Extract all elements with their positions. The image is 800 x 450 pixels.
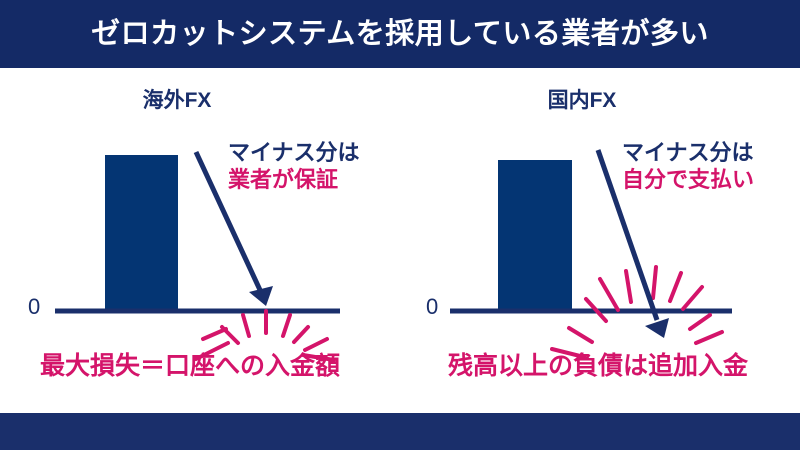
- zero-label-domestic: 0: [426, 296, 438, 318]
- annotation-line-1: マイナス分は: [228, 140, 360, 167]
- zero-label-overseas: 0: [28, 296, 40, 318]
- annotation-domestic: マイナス分は 自分で支払い: [622, 140, 754, 194]
- deposit-bar: [498, 160, 572, 310]
- caption-domestic: 残高以上の負債は追加入金: [398, 354, 798, 379]
- title-banner: ゼロカットシステムを採用している業者が多い: [0, 0, 800, 68]
- deposit-bar: [105, 155, 178, 310]
- panel-domestic-fx: 国内FX 0: [400, 68, 800, 413]
- bottom-banner: [0, 413, 800, 450]
- caption-overseas: 最大損失＝口座への入金額: [0, 354, 390, 379]
- infographic-canvas: ゼロカットシステムを採用している業者が多い 海外FX: [0, 0, 800, 450]
- annotation-line-1: マイナス分は: [622, 140, 754, 167]
- annotation-overseas: マイナス分は 業者が保証: [228, 140, 360, 194]
- annotation-line-2: 自分で支払い: [622, 167, 754, 194]
- page-title: ゼロカットシステムを採用している業者が多い: [91, 20, 709, 49]
- panel-overseas-fx: 海外FX 0: [0, 68, 400, 413]
- annotation-line-2: 業者が保証: [228, 167, 360, 194]
